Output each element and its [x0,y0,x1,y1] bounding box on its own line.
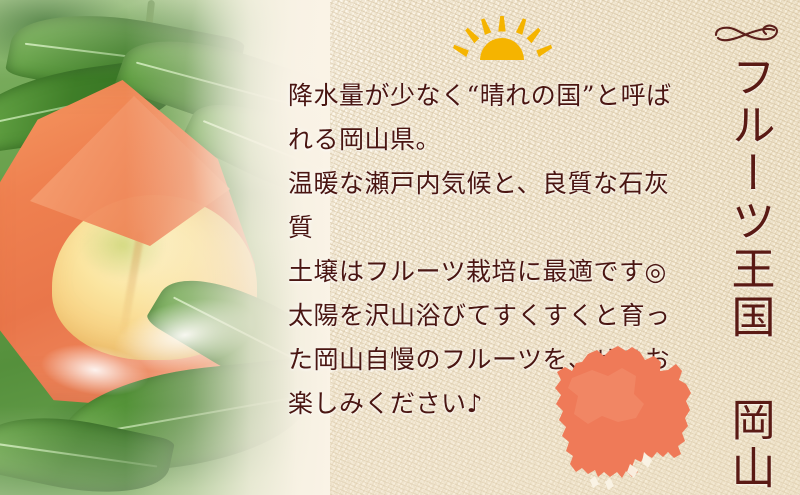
vertical-title-text: フルーツ王国 岡山県 [726,54,771,495]
fruit-kingdom-okayama-banner: 降水量が少なく“晴れの国”と呼ば れる岡山県。 温暖な瀬戸内気候と、良質な石灰質… [0,0,800,495]
rising-sun-icon [447,16,557,72]
vertical-title-block: フルーツ王国 岡山県 [705,18,791,478]
okayama-prefecture-map [548,344,696,495]
peach-photo [0,0,330,495]
photo-edge-fade [0,0,330,495]
flourish-ornament-top-icon [708,18,788,48]
